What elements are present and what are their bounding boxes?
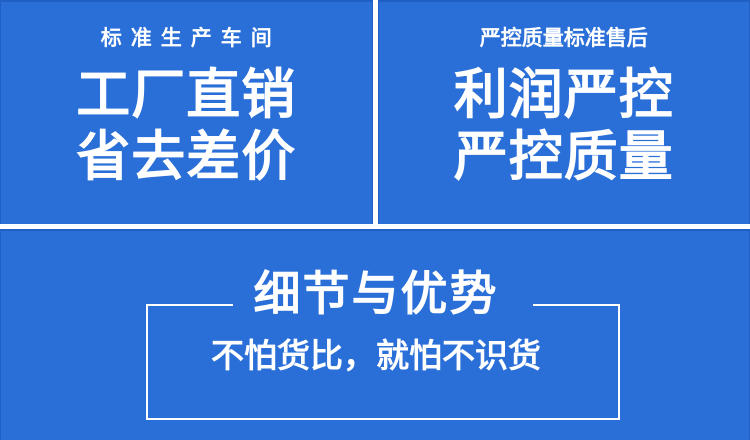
right-panel-headline-line2: 严控质量: [454, 127, 674, 187]
top-panel-row: 标准生产车间 工厂直销 省去差价 严控质量标准售后 利润严控 严控质量: [0, 0, 750, 224]
panel-details-advantages: 细节与优势 不怕货比，就怕不识货: [0, 229, 750, 440]
bottom-panel-subtitle: 不怕货比，就怕不识货: [1, 339, 750, 372]
panel-factory-direct: 标准生产车间 工厂直销 省去差价: [0, 0, 373, 224]
promo-banner: 标准生产车间 工厂直销 省去差价 严控质量标准售后 利润严控 严控质量 细节与优…: [0, 0, 750, 440]
left-panel-headline-line1: 工厂直销: [76, 65, 296, 125]
left-panel-eyebrow: 标准生产车间: [92, 28, 281, 49]
bottom-panel-title: 细节与优势: [1, 271, 750, 318]
left-panel-headline-line2: 省去差价: [76, 127, 296, 187]
right-panel-headline-line1: 利润严控: [454, 65, 674, 125]
panel-quality-control: 严控质量标准售后 利润严控 严控质量: [378, 0, 750, 224]
right-panel-eyebrow: 严控质量标准售后: [480, 28, 648, 49]
